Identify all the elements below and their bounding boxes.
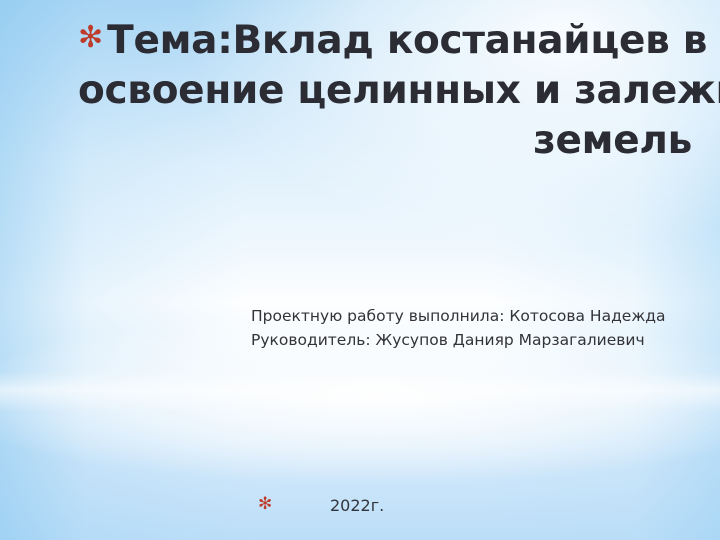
slide-title: ✻Тема:Вклад костанайцев в Тема:Вклад кос… [78,18,692,168]
title-line-3-reflection: земель [533,161,692,191]
footer-asterisk-bullet-icon: ✻ [258,492,272,516]
asterisk-bullet-icon: ✻ [78,18,103,58]
title-line-3-text: земель [533,118,692,164]
title-line-1: ✻Тема:Вклад костанайцев в Тема:Вклад кос… [78,18,692,68]
background-light-streak [0,372,720,412]
presentation-slide: ✻Тема:Вклад костанайцев в Тема:Вклад кос… [0,0,720,540]
title-line-3: земель земель [78,118,692,168]
slide-subtitle: Проектную работу выполнила: Котосова Над… [251,304,711,352]
author-line: Проектную работу выполнила: Котосова Над… [251,304,711,328]
title-line-2-text: освоение целинных и залежных [78,68,720,114]
slide-footer: ✻ 2022г. [258,492,558,522]
title-line-2: освоение целинных и залежных освоение це… [78,68,692,118]
year-label: 2022г. [330,494,384,518]
supervisor-line: Руководитель: Жусупов Данияр Марзагалиев… [251,328,711,352]
title-line-1-text: Тема:Вклад костанайцев в [107,18,707,64]
